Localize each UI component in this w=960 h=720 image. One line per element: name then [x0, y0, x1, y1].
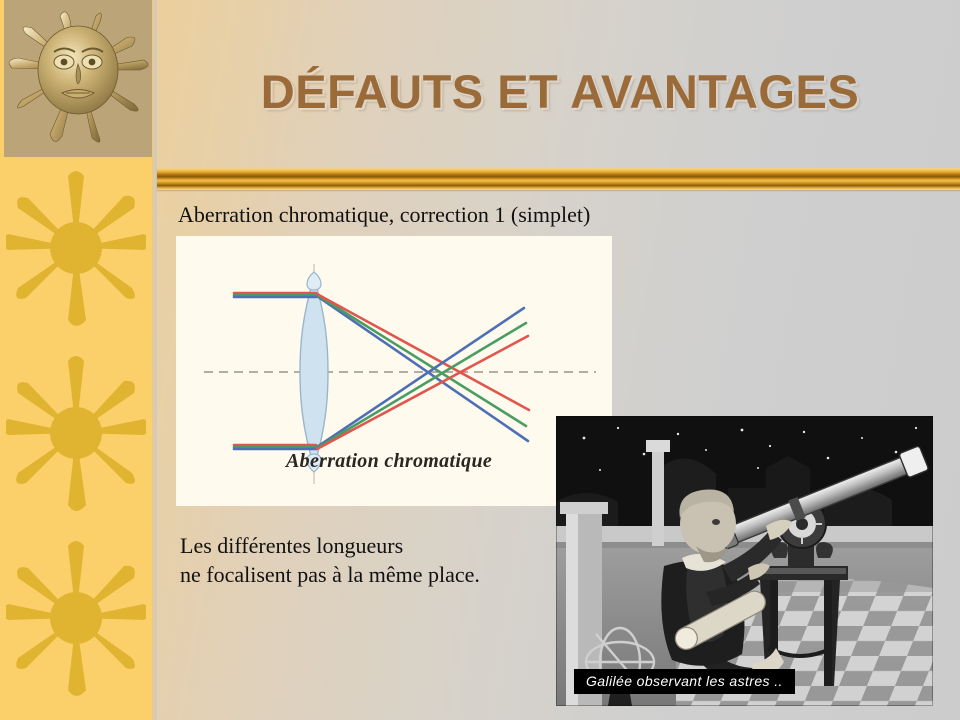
- figure-caption: Aberration chromatique: [286, 450, 492, 473]
- galileo-illustration: Galilée observant les astres ..: [556, 416, 933, 706]
- subtitle-text: Aberration chromatique, correction 1 (si…: [178, 202, 590, 228]
- chromatic-aberration-figure: Aberration chromatique: [176, 236, 612, 506]
- golden-sun-face-icon: [4, 0, 152, 157]
- decorative-sidebar: [0, 0, 152, 720]
- body-text: Les différentes longueurs ne focalisent …: [180, 531, 480, 589]
- sidebar-sun-3: [6, 538, 146, 698]
- photo-caption: Galilée observant les astres ..: [574, 669, 795, 694]
- slide-canvas: DÉFAUTS ET AVANTAGES Aberration chromati…: [0, 0, 960, 720]
- body-line-1: Les différentes longueurs: [180, 531, 480, 560]
- sun-emblem-plaque: [4, 0, 152, 157]
- gold-divider-bar: [157, 168, 960, 190]
- sidebar-sun-2: [6, 353, 146, 513]
- body-line-2: ne focalisent pas à la même place.: [180, 560, 480, 589]
- sidebar-sun-1: [6, 168, 146, 328]
- sidebar-edge-divider: [152, 0, 157, 720]
- page-title: DÉFAUTS ET AVANTAGES: [180, 57, 940, 127]
